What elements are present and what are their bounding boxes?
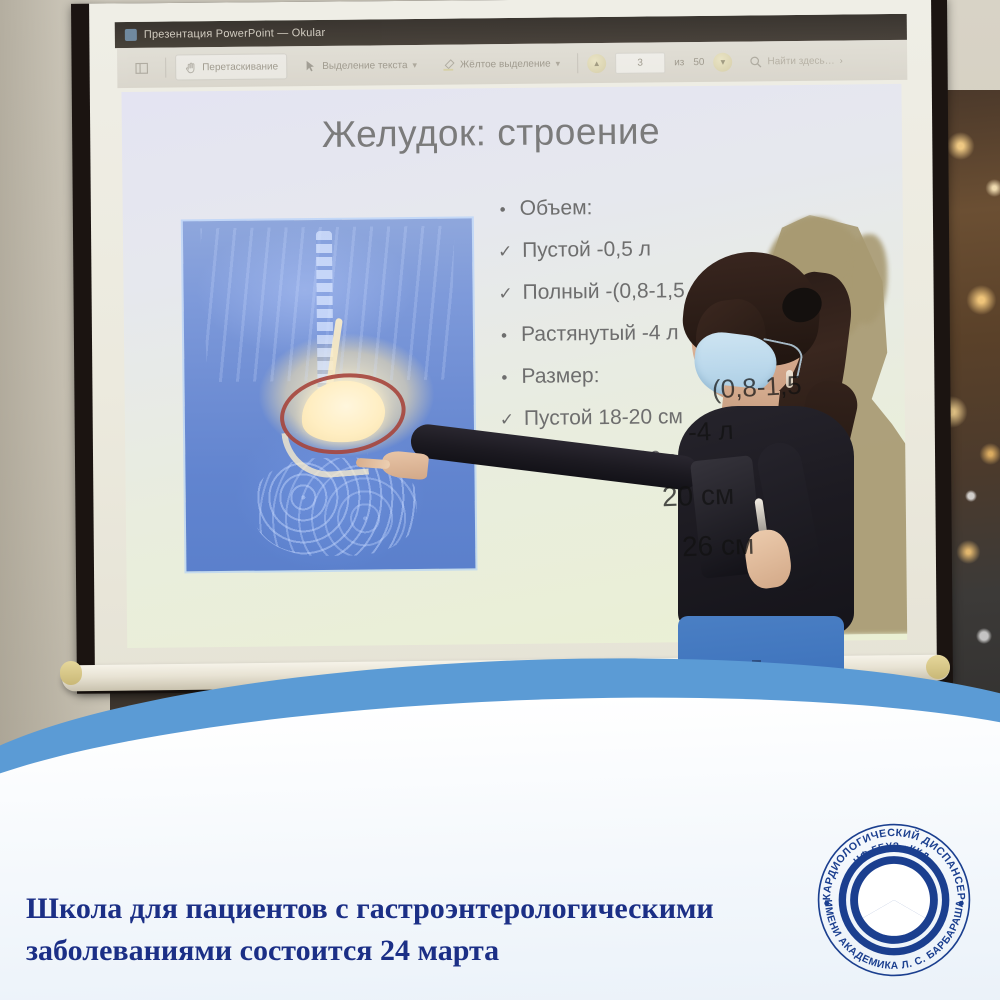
- page-of-label: из: [674, 57, 684, 68]
- photo-scene: Презентация PowerPoint — Okular Перетаск…: [0, 0, 1000, 1000]
- bullet-marker: •: [494, 189, 510, 230]
- next-page-button[interactable]: ▼: [713, 52, 732, 71]
- chevron-down-icon-2[interactable]: ▾: [556, 58, 561, 69]
- bullet-marker: ✓: [497, 231, 513, 272]
- projected-text-size-empty: 20 см: [661, 479, 734, 513]
- text-select-tool-button[interactable]: Выделение текста ▾: [296, 53, 425, 78]
- previous-page-button[interactable]: ▲: [587, 53, 606, 72]
- app-icon: [125, 29, 137, 41]
- hand-icon: [184, 61, 197, 74]
- search-input[interactable]: Найти здесь…: [767, 55, 834, 67]
- bullet-marker: •: [496, 357, 512, 398]
- highlight-tool-button[interactable]: Жёлтое выделение ▾: [434, 51, 568, 76]
- projected-text-volume-full: (0,8-1,5: [711, 370, 802, 406]
- window-title: Презентация PowerPoint — Okular: [144, 27, 326, 41]
- page-total-label: 50: [693, 56, 704, 67]
- slide-title: Желудок: строение: [322, 110, 661, 156]
- caption-text: Школа для пациентов с гастроэнтерологиче…: [26, 888, 846, 972]
- sidebar-icon: [135, 61, 148, 74]
- search-box[interactable]: Найти здесь… ›: [749, 54, 842, 68]
- text-select-tool-label: Выделение текста: [322, 60, 407, 72]
- search-icon: [749, 55, 762, 68]
- bullet-marker: ✓: [497, 273, 513, 314]
- drag-tool-button[interactable]: Перетаскивание: [175, 53, 287, 80]
- drag-tool-label: Перетаскивание: [202, 61, 278, 73]
- bullet-text: Размер:: [521, 355, 599, 397]
- page-number-input[interactable]: 3: [615, 52, 665, 74]
- projected-text-size-full: 26 см: [681, 529, 754, 563]
- highlight-tool-label: Жёлтое выделение: [460, 58, 551, 70]
- highlighter-icon: [442, 58, 455, 71]
- screen-roller-cap-right: [926, 655, 950, 679]
- sidebar-toggle-button[interactable]: [127, 56, 156, 80]
- toolbar-divider-1: [165, 58, 166, 78]
- cursor-arrow-icon: [304, 60, 317, 73]
- chevron-down-icon[interactable]: ▾: [412, 59, 417, 70]
- chevron-right-icon[interactable]: ›: [840, 56, 843, 66]
- okular-toolbar: Перетаскивание Выделение текста ▾ Жёлтое…: [117, 40, 913, 88]
- toolbar-divider-2: [577, 53, 578, 73]
- projected-text-stretched: -4 л: [687, 415, 734, 448]
- bullet-text: Объем:: [519, 187, 592, 229]
- screen-roller-cap-left: [60, 661, 82, 685]
- anatomy-xray-image: [183, 218, 476, 571]
- caption-line-2: заболеваниями состоится 24 марта: [26, 930, 846, 972]
- caption-line-1: Школа для пациентов с гастроэнтерологиче…: [26, 888, 846, 930]
- bullet-marker: •: [496, 315, 512, 356]
- organization-logo: КАРДИОЛОГИЧЕСКИЙ ДИСПАНСЕР НФ ГБУЗ «ККД»…: [812, 818, 976, 982]
